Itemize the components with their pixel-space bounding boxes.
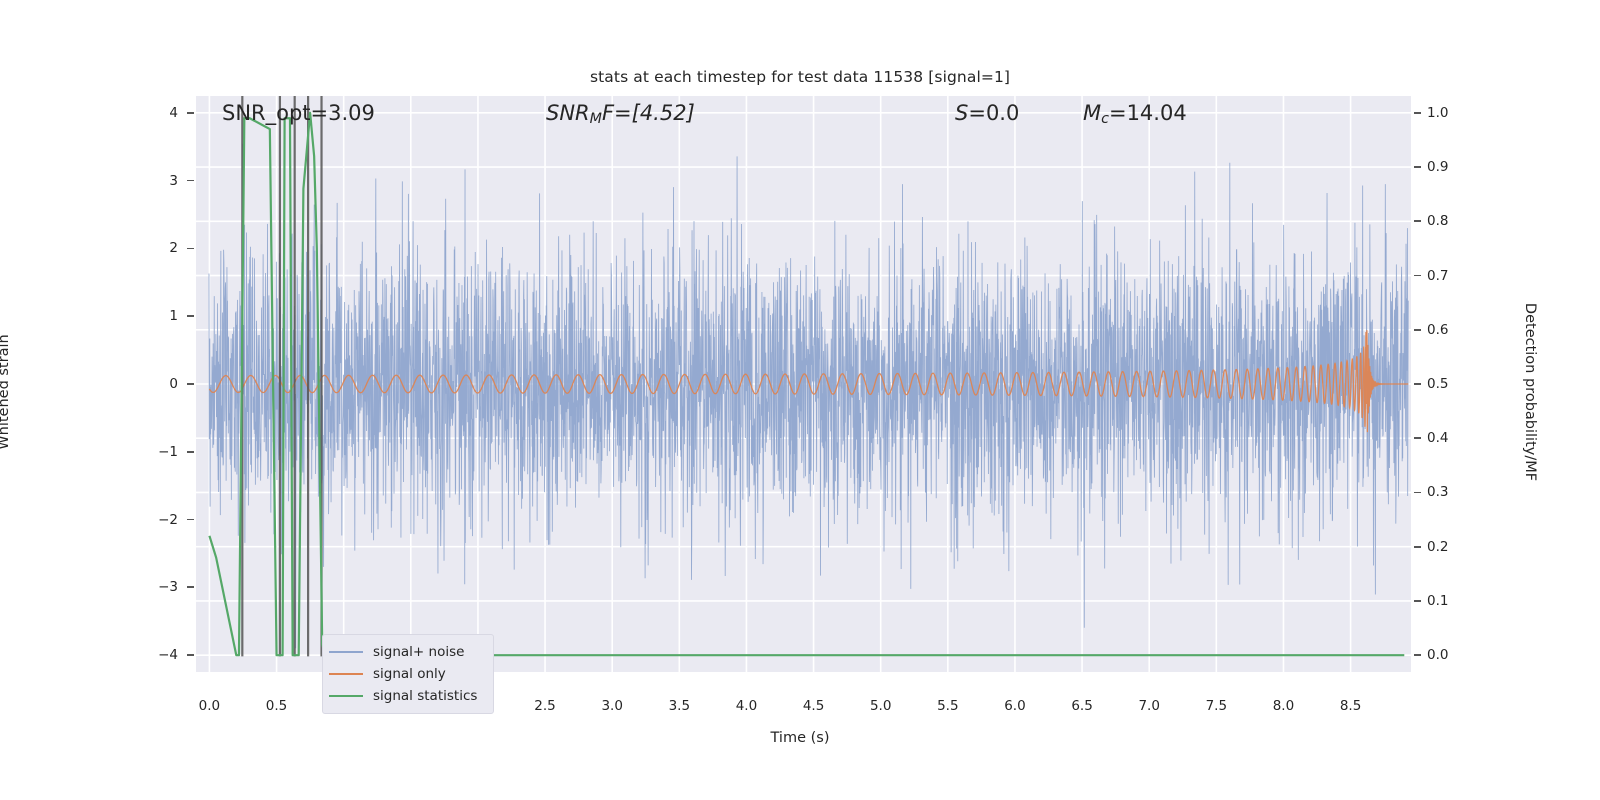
x-tick-label: 4.5 xyxy=(784,698,844,714)
y-tick-label-right: 0.3 xyxy=(1427,484,1448,500)
legend-swatch-signal-statistics xyxy=(329,695,363,697)
annotation-s-rest: =0.0 xyxy=(968,101,1019,125)
y-tick-mark-left xyxy=(187,315,194,317)
y-tick-mark-right xyxy=(1414,492,1421,494)
annotation-snr-mf-sub: M xyxy=(590,111,602,127)
y-tick-label-left: 1 xyxy=(118,308,178,324)
x-tick-label: 5.5 xyxy=(918,698,978,714)
y-tick-label-left: −4 xyxy=(118,647,178,663)
legend-item-signal-noise[interactable]: signal+ noise xyxy=(329,641,485,663)
annotation-mc-rest: =14.04 xyxy=(1109,101,1187,125)
y-tick-label-left: 3 xyxy=(118,173,178,189)
annotation-s-prefix: S xyxy=(955,101,968,125)
series-signal-noise xyxy=(209,144,1408,649)
y-tick-label-left: 0 xyxy=(118,376,178,392)
y-tick-mark-right xyxy=(1414,329,1421,331)
legend-swatch-signal-noise xyxy=(329,651,363,653)
y-tick-mark-right xyxy=(1414,112,1421,114)
x-tick-label: 3.0 xyxy=(582,698,642,714)
x-tick-label: 7.0 xyxy=(1119,698,1179,714)
legend[interactable]: signal+ noise signal only signal statist… xyxy=(322,634,494,714)
y-axis-label-left: Whitened strain xyxy=(0,242,12,542)
x-tick-label: 4.0 xyxy=(716,698,776,714)
annotation-snr-mf-prefix: SNR xyxy=(546,101,590,125)
legend-label-signal-noise: signal+ noise xyxy=(373,644,464,660)
y-axis-label-right: Detection probability/MF xyxy=(1522,242,1538,542)
y-tick-label-right: 0.9 xyxy=(1427,159,1448,175)
annotation-mc: Mc=14.04 xyxy=(1083,101,1187,127)
annotation-s: S=0.0 xyxy=(955,101,1019,125)
y-tick-mark-left xyxy=(187,654,194,656)
y-tick-label-right: 0.7 xyxy=(1427,268,1448,284)
legend-label-signal-only: signal only xyxy=(373,666,446,682)
y-tick-label-right: 0.0 xyxy=(1427,647,1448,663)
y-tick-label-right: 0.5 xyxy=(1427,376,1448,392)
y-tick-mark-right xyxy=(1414,654,1421,656)
annotation-snr-opt: SNR_opt=3.09 xyxy=(222,101,375,125)
y-tick-label-left: −1 xyxy=(118,444,178,460)
y-tick-mark-right xyxy=(1414,220,1421,222)
y-tick-mark-left xyxy=(187,519,194,521)
legend-swatch-signal-only xyxy=(329,673,363,675)
y-tick-label-right: 1.0 xyxy=(1427,105,1448,121)
legend-item-signal-only[interactable]: signal only xyxy=(329,663,485,685)
y-tick-label-right: 0.8 xyxy=(1427,213,1448,229)
annotation-mc-prefix: M xyxy=(1083,101,1101,125)
x-tick-label: 8.5 xyxy=(1321,698,1381,714)
y-tick-mark-right xyxy=(1414,166,1421,168)
y-tick-mark-left xyxy=(187,383,194,385)
y-tick-label-left: 4 xyxy=(118,105,178,121)
y-tick-mark-left xyxy=(187,451,194,453)
y-tick-mark-right xyxy=(1414,437,1421,439)
chart-title: stats at each timestep for test data 115… xyxy=(0,68,1600,86)
x-tick-label: 7.5 xyxy=(1186,698,1246,714)
x-tick-label: 0.0 xyxy=(179,698,239,714)
y-tick-label-right: 0.4 xyxy=(1427,430,1448,446)
plot-svg xyxy=(196,96,1411,672)
y-tick-label-left: 2 xyxy=(118,240,178,256)
y-tick-mark-right xyxy=(1414,600,1421,602)
legend-label-signal-statistics: signal statistics xyxy=(373,688,477,704)
y-tick-mark-left xyxy=(187,112,194,114)
x-axis-label: Time (s) xyxy=(0,730,1600,746)
figure-canvas: stats at each timestep for test data 115… xyxy=(0,0,1600,800)
x-tick-label: 6.0 xyxy=(985,698,1045,714)
y-tick-mark-right xyxy=(1414,546,1421,548)
y-tick-label-right: 0.6 xyxy=(1427,322,1448,338)
y-tick-label-right: 0.2 xyxy=(1427,539,1448,555)
legend-item-signal-statistics[interactable]: signal statistics xyxy=(329,685,485,707)
signal-noise-trace xyxy=(209,144,1408,649)
y-tick-label-right: 0.1 xyxy=(1427,593,1448,609)
y-tick-mark-right xyxy=(1414,383,1421,385)
annotation-snr-mf-rest: F=[4.52] xyxy=(602,101,695,125)
x-tick-label: 0.5 xyxy=(247,698,307,714)
plot-area xyxy=(196,96,1411,672)
x-tick-label: 6.5 xyxy=(1052,698,1112,714)
annotation-snr-mf: SNRMF=[4.52] xyxy=(546,101,695,127)
x-tick-label: 3.5 xyxy=(649,698,709,714)
x-tick-label: 2.5 xyxy=(515,698,575,714)
x-tick-label: 8.0 xyxy=(1253,698,1313,714)
x-tick-label: 5.0 xyxy=(851,698,911,714)
annotation-mc-sub: c xyxy=(1101,111,1109,127)
y-tick-mark-right xyxy=(1414,275,1421,277)
y-tick-mark-left xyxy=(187,180,194,182)
y-tick-label-left: −2 xyxy=(118,512,178,528)
y-tick-label-left: −3 xyxy=(118,579,178,595)
y-tick-mark-left xyxy=(187,586,194,588)
y-tick-mark-left xyxy=(187,248,194,250)
